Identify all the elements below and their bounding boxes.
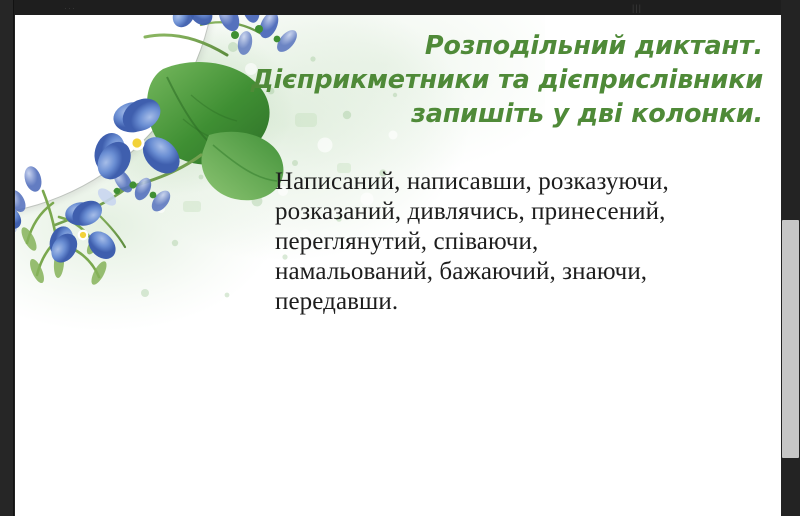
vertical-scrollbar-track[interactable] bbox=[781, 15, 800, 516]
slide-body-line-5: передавши. bbox=[275, 287, 775, 317]
slide-viewer: Розподільний диктант. Дієприкметники та … bbox=[0, 0, 800, 516]
slide-body-line-4: намальований, бажаючий, знаючи, bbox=[275, 257, 775, 287]
slide-body-line-2: розказаний, дивлячись, принесений, bbox=[275, 197, 775, 227]
slide-heading-line-3: запишіть у дві колонки. bbox=[223, 97, 763, 131]
top-bar-glyph-left: ··· bbox=[64, 3, 76, 13]
slide-heading-line-1: Розподільний диктант. bbox=[223, 29, 763, 63]
slide-body-line-3: переглянутий, співаючи, bbox=[275, 227, 775, 257]
slide-heading-line-2: Дієприкметники та дієприслівники bbox=[223, 63, 763, 97]
top-bar-glyph-right: ||| bbox=[632, 3, 642, 13]
viewer-top-bar: ··· ||| bbox=[0, 0, 800, 15]
vertical-scrollbar-thumb[interactable] bbox=[782, 220, 799, 458]
slide-heading: Розподільний диктант. Дієприкметники та … bbox=[223, 29, 763, 131]
slide-body-text: Написаний, написавши, розказуючи, розказ… bbox=[275, 167, 775, 317]
slide-body-line-1: Написаний, написавши, розказуючи, bbox=[275, 167, 775, 197]
viewer-left-gutter bbox=[0, 0, 14, 516]
decorative-circle-plate bbox=[15, 15, 215, 215]
slide-canvas: Розподільний диктант. Дієприкметники та … bbox=[15, 15, 781, 516]
